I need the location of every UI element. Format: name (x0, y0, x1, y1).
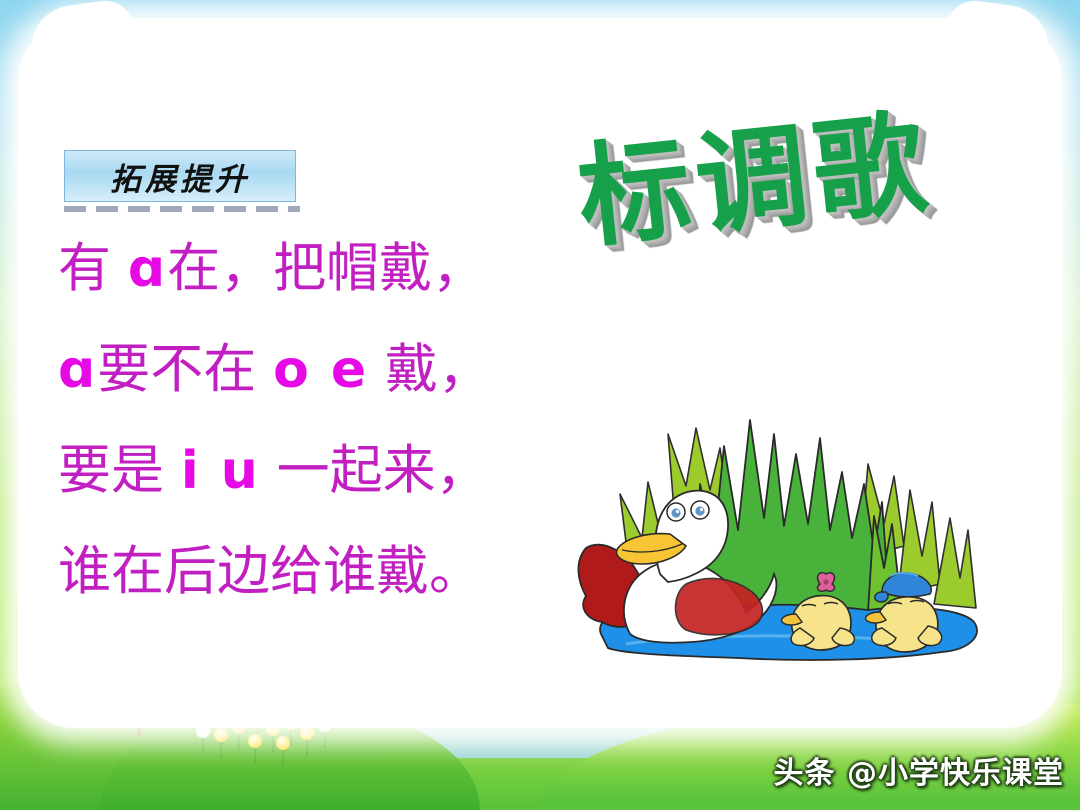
poem-han-text: 在，把帽戴， (167, 238, 485, 299)
section-badge[interactable]: 拓展提升 (64, 150, 300, 212)
goose-and-ducklings-illustration (568, 398, 998, 688)
flower-petal-icon (300, 726, 314, 740)
poem-line-3: 要是 i u 一起来， (58, 444, 558, 497)
pinyin-i-u: i u (181, 441, 260, 501)
poem-line-2: ɑ要不在 o e 戴， (58, 343, 558, 396)
flower-icon (300, 726, 314, 740)
slide-canvas: 拓展提升 标调歌 有 ɑ在，把帽戴， ɑ要不在 o e 戴， 要是 i u 一起… (0, 0, 1080, 810)
section-badge-dashed-rule (64, 206, 300, 212)
illustration-svg (568, 398, 998, 688)
poem-body: 有 ɑ在，把帽戴， ɑ要不在 o e 戴， 要是 i u 一起来， 谁在后边给谁… (58, 242, 558, 646)
poem-han-text: 有 (58, 238, 128, 299)
poem-han-text: 要不在 (97, 339, 273, 400)
poem-han-text: 戴， (368, 339, 491, 400)
pinyin-a: ɑ (58, 340, 97, 400)
flower-icon (214, 728, 228, 742)
poem-line-1: 有 ɑ在，把帽戴， (58, 242, 558, 295)
pinyin-a: ɑ (128, 239, 167, 299)
pink-bow-icon (818, 573, 835, 592)
flower-petal-icon (214, 728, 228, 742)
flower-icon (248, 734, 262, 748)
watermark: 头条 @小学快乐课堂 (774, 748, 1064, 792)
poem-han-text: 要是 (58, 440, 181, 501)
section-badge-box[interactable]: 拓展提升 (64, 150, 296, 202)
flower-petal-icon (276, 736, 290, 750)
section-badge-label: 拓展提升 (110, 154, 250, 199)
poem-han-text: 一起来， (260, 440, 489, 501)
flower-icon (276, 736, 290, 750)
pinyin-o-e: o e (273, 340, 368, 400)
poem-line-4: 谁在后边给谁戴。 (58, 545, 558, 598)
flower-petal-icon (248, 734, 262, 748)
